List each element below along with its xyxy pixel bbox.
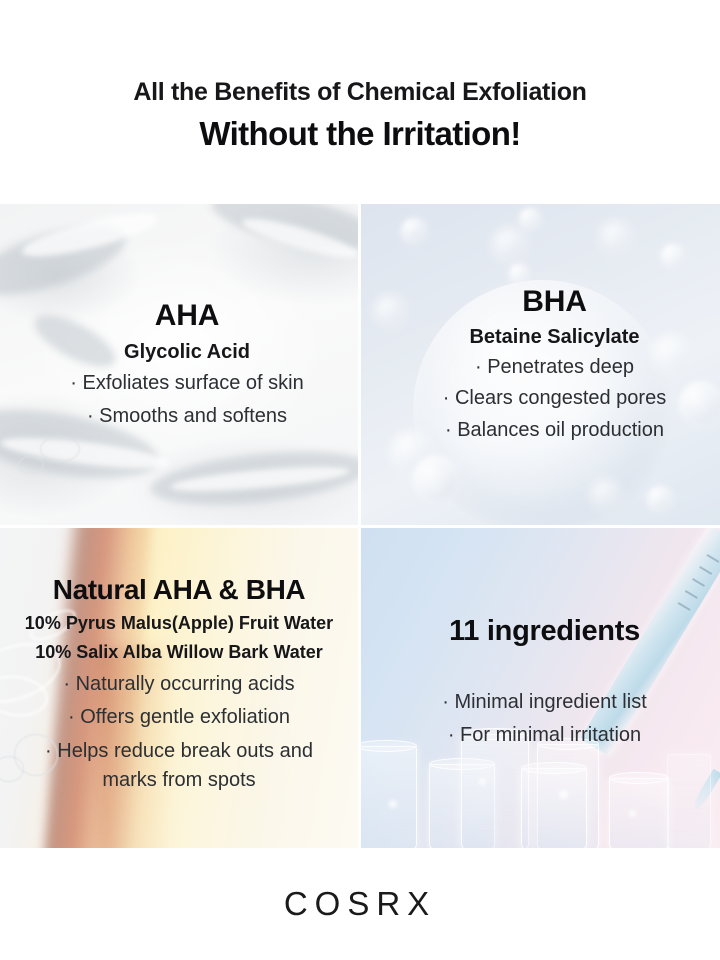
infographic-page: All the Benefits of Chemical Exfoliation… [0,0,720,960]
bha-bullet-1: · Penetrates deep [475,354,634,381]
bha-text-block: BHA Betaine Salicylate · Penetrates deep… [375,285,720,444]
natural-bullet-3-cont: marks from spots [102,767,255,794]
aha-text-block: AHA Glycolic Acid · Exfoliates surface o… [8,299,358,429]
natural-subtitle-1: 10% Pyrus Malus(Apple) Fruit Water [25,613,333,635]
aha-subtitle: Glycolic Acid [124,340,250,364]
natural-bullet-2: · Offers gentle exfoliation [68,704,290,731]
header: All the Benefits of Chemical Exfoliation… [0,0,720,204]
natural-bullet-3: · Helps reduce break outs and [45,738,313,765]
aha-bullet-1: · Exfoliates surface of skin [70,370,303,397]
panel-natural-aha-bha: Natural AHA & BHA 10% Pyrus Malus(Apple)… [0,528,358,848]
footer: COSRX [0,848,720,960]
natural-bullet-1: · Naturally occurring acids [63,671,294,698]
bha-subtitle: Betaine Salicylate [469,325,639,349]
ingredients-title: 11 ingredients [449,615,640,647]
natural-text-block: Natural AHA & BHA 10% Pyrus Malus(Apple)… [0,574,358,794]
ingredients-bullet-2: · For minimal irritation [448,722,641,749]
headline-line-1: All the Benefits of Chemical Exfoliation [133,78,586,107]
panel-bha: BHA Betaine Salicylate · Penetrates deep… [361,204,720,525]
ingredients-text-block: 11 ingredients · Minimal ingredient list… [365,615,720,749]
panel-aha: AHA Glycolic Acid · Exfoliates surface o… [0,204,358,525]
natural-title: Natural AHA & BHA [53,574,305,605]
cosrx-brand-logo: COSRX [284,885,436,923]
natural-subtitle-2: 10% Salix Alba Willow Bark Water [35,642,323,664]
bha-bullet-3: · Balances oil production [445,417,664,444]
bha-title: BHA [522,285,586,319]
panel-ingredients: 11 ingredients · Minimal ingredient list… [361,528,720,848]
aha-title: AHA [155,299,219,333]
headline-line-2: Without the Irritation! [199,114,520,154]
benefits-grid: AHA Glycolic Acid · Exfoliates surface o… [0,204,720,848]
aha-bullet-2: · Smooths and softens [87,403,287,430]
ingredients-bullet-1: · Minimal ingredient list [442,689,647,716]
bha-bullet-2: · Clears congested pores [443,385,666,412]
